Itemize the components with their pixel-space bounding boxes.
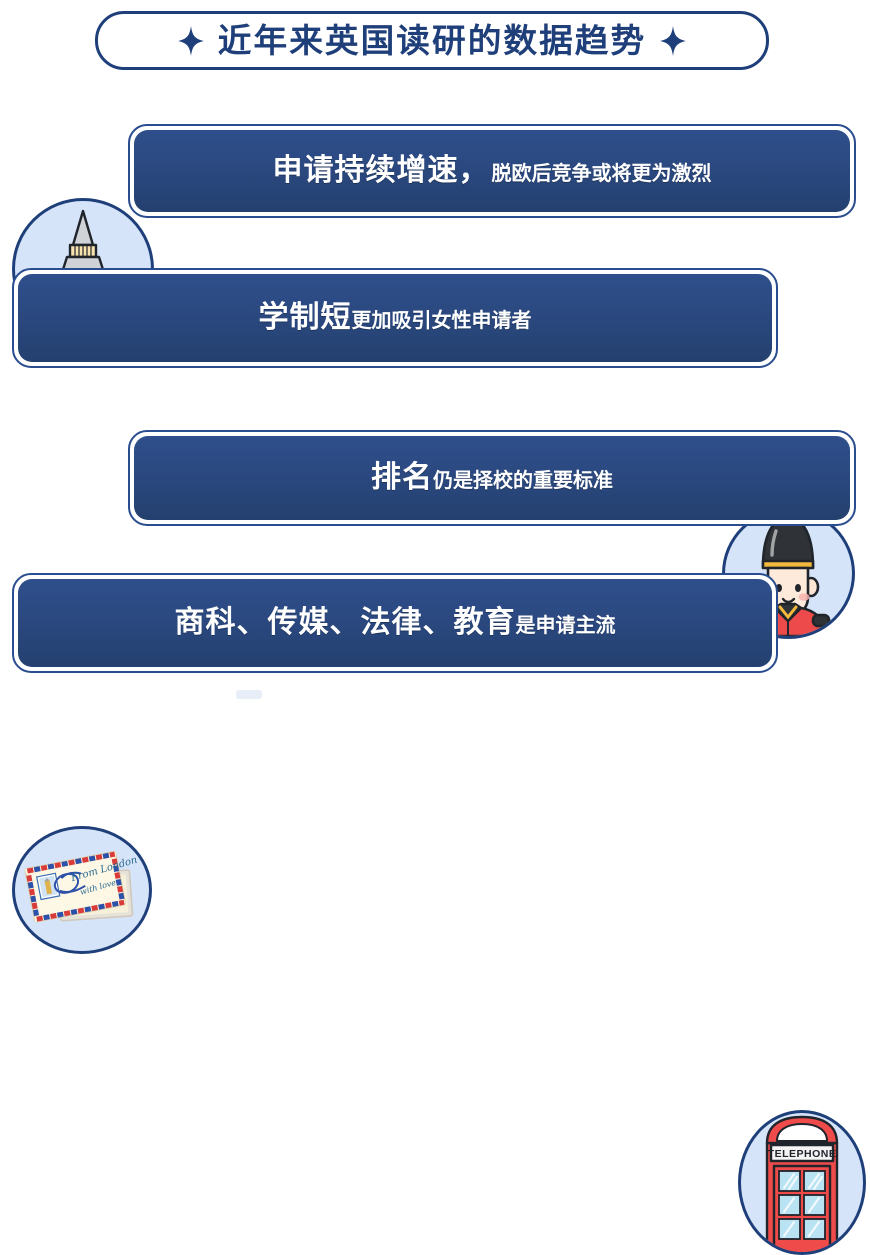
page-title-banner: 近年来英国读研的数据趋势 (95, 11, 769, 70)
fact-subtext-2: 更加吸引女性申请者 (352, 308, 532, 332)
fact-headline-1: 申请持续增速 (273, 153, 459, 188)
fact-text-3: 排名仍是择校的重要标准 (134, 463, 850, 493)
fact-text-4: 商科、传媒、法律、教育是申请主流 (18, 608, 772, 638)
sparkle-icon (178, 26, 204, 56)
fact-bar-2: 学制短更加吸引女性申请者 (18, 274, 772, 362)
sparkle-icon (660, 26, 686, 56)
fact-text-1: 申请持续增速，脱欧后竞争或将更为激烈 (134, 156, 850, 186)
fact-headline-3: 排名 (371, 460, 433, 495)
fact-row-3: 排名仍是择校的重要标准 (0, 410, 870, 547)
london-postcard-icon: From London with love (12, 826, 152, 954)
fact-subtext-3: 仍是择校的重要标准 (433, 468, 613, 492)
fact-text-2: 学制短更加吸引女性申请者 (18, 303, 772, 333)
fact-row-2: 学制短更加吸引女性申请者 (0, 253, 870, 388)
fact-subtext-4: 是申请主流 (516, 613, 616, 637)
fact-subtext-1: 脱欧后竞争或将更为激烈 (492, 161, 712, 185)
fact-headline-4: 商科、传媒、法律、教育 (175, 605, 516, 640)
infographic-canvas: 近年来英国读研的数据趋势 申请持续增速，脱欧后竞争或将更为激烈 (0, 0, 870, 699)
fact-separator-1: ， (459, 153, 492, 188)
fact-headline-2: 学制短 (259, 300, 352, 335)
next-row-partial (236, 690, 262, 699)
fact-bar-1: 申请持续增速，脱欧后竞争或将更为激烈 (134, 130, 850, 212)
fact-bar-3: 排名仍是择校的重要标准 (134, 436, 850, 520)
fact-row-4: 商科、传媒、法律、教育是申请主流 (0, 556, 870, 691)
fact-bar-4: 商科、传媒、法律、教育是申请主流 (18, 579, 772, 667)
telephone-sign-text: TELEPHONE (768, 1148, 837, 1160)
fact-row-1: 申请持续增速，脱欧后竞争或将更为激烈 (0, 98, 870, 243)
telephone-booth-icon: TELEPHONE (738, 1110, 866, 1255)
page-title: 近年来英国读研的数据趋势 (218, 24, 646, 57)
